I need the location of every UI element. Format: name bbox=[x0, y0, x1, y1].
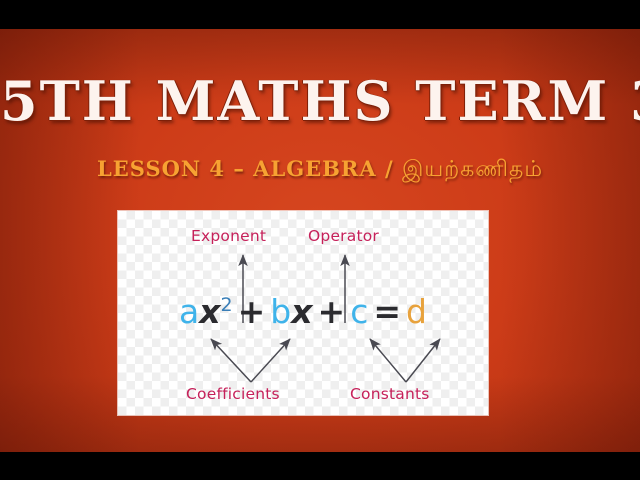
equation-token-d: d bbox=[406, 295, 427, 328]
label-exponent: Exponent bbox=[191, 227, 266, 245]
label-coefficients: Coefficients bbox=[186, 385, 280, 403]
arrow-constant-c bbox=[370, 339, 406, 382]
equation-token-x2: x bbox=[291, 295, 312, 328]
subtitle-tamil-text: இயற்கணிதம் bbox=[402, 157, 543, 182]
page-title: 5TH MATHS TERM 3 bbox=[0, 74, 640, 128]
arrow-coefficient-a bbox=[211, 339, 251, 382]
equation-token-x1: x bbox=[199, 295, 220, 328]
letterbox-bottom bbox=[0, 452, 640, 480]
slide-stage: 5TH MATHS TERM 3 LESSON 4 – ALGEBRA / இய… bbox=[0, 29, 640, 452]
label-operator: Operator bbox=[308, 227, 379, 245]
equation-token-c: c bbox=[350, 295, 368, 328]
slide-subtitle: LESSON 4 – ALGEBRA / இயற்கணிதம் bbox=[0, 157, 640, 182]
equation-token-plus2: + bbox=[313, 295, 351, 328]
label-constants: Constants bbox=[350, 385, 430, 403]
algebra-equation: ax2+bx+c=d bbox=[118, 295, 488, 328]
equation-token-equals: = bbox=[368, 295, 406, 328]
equation-token-exponent: 2 bbox=[221, 296, 233, 315]
arrow-constant-d bbox=[406, 339, 440, 382]
equation-token-a: a bbox=[179, 295, 199, 328]
equation-token-b: b bbox=[270, 295, 291, 328]
presentation-slide: 5TH MATHS TERM 3 LESSON 4 – ALGEBRA / இய… bbox=[0, 0, 640, 480]
algebra-diagram-panel: Exponent Operator Coefficients Constants… bbox=[118, 211, 488, 415]
arrow-coefficient-b bbox=[251, 339, 290, 382]
letterbox-top bbox=[0, 0, 640, 29]
subtitle-latin-text: LESSON 4 – ALGEBRA / bbox=[97, 156, 402, 181]
equation-token-plus1: + bbox=[233, 295, 271, 328]
